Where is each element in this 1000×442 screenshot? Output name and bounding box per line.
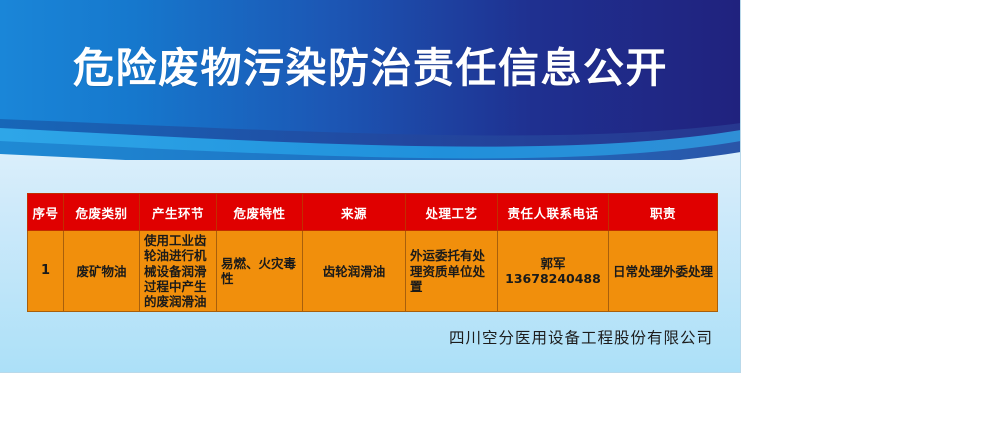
cell-hazard-property: 易燃、火灾毒性 <box>217 231 303 312</box>
table-header-row: 序号 危废类别 产生环节 危废特性 来源 处理工艺 责任人联系电话 职责 <box>28 194 718 231</box>
information-poster: 危险废物污染防治责任信息公开 序号 危废类别 产生环节 危废特性 来源 处理工艺… <box>0 0 741 373</box>
column-header-property: 危废特性 <box>217 194 303 231</box>
column-header-duty: 职责 <box>609 194 718 231</box>
contact-person-name: 郭军 <box>501 256 605 271</box>
cell-contact: 郭军 13678240488 <box>498 231 609 312</box>
hazardous-waste-table: 序号 危废类别 产生环节 危废特性 来源 处理工艺 责任人联系电话 职责 1 废… <box>27 193 718 312</box>
column-header-treatment: 处理工艺 <box>406 194 498 231</box>
contact-phone-number: 13678240488 <box>501 271 605 286</box>
cell-category: 废矿物油 <box>64 231 140 312</box>
cell-stage: 使用工业齿轮油进行机械设备润滑过程中产生的废润滑油 <box>140 231 217 312</box>
column-header-contact: 责任人联系电话 <box>498 194 609 231</box>
company-name: 四川空分医用设备工程股份有限公司 <box>27 326 713 348</box>
banner-wave-graphic <box>0 0 741 160</box>
column-header-source: 来源 <box>303 194 406 231</box>
column-header-index: 序号 <box>28 194 64 231</box>
column-header-category: 危废类别 <box>64 194 140 231</box>
table-row: 1 废矿物油 使用工业齿轮油进行机械设备润滑过程中产生的废润滑油 易燃、火灾毒性… <box>28 231 718 312</box>
cell-treatment: 外运委托有处理资质单位处置 <box>406 231 498 312</box>
poster-header-banner: 危险废物污染防治责任信息公开 <box>0 0 741 160</box>
column-header-stage: 产生环节 <box>140 194 217 231</box>
cell-index: 1 <box>28 231 64 312</box>
cell-duty: 日常处理外委处理 <box>609 231 718 312</box>
cell-source: 齿轮润滑油 <box>303 231 406 312</box>
